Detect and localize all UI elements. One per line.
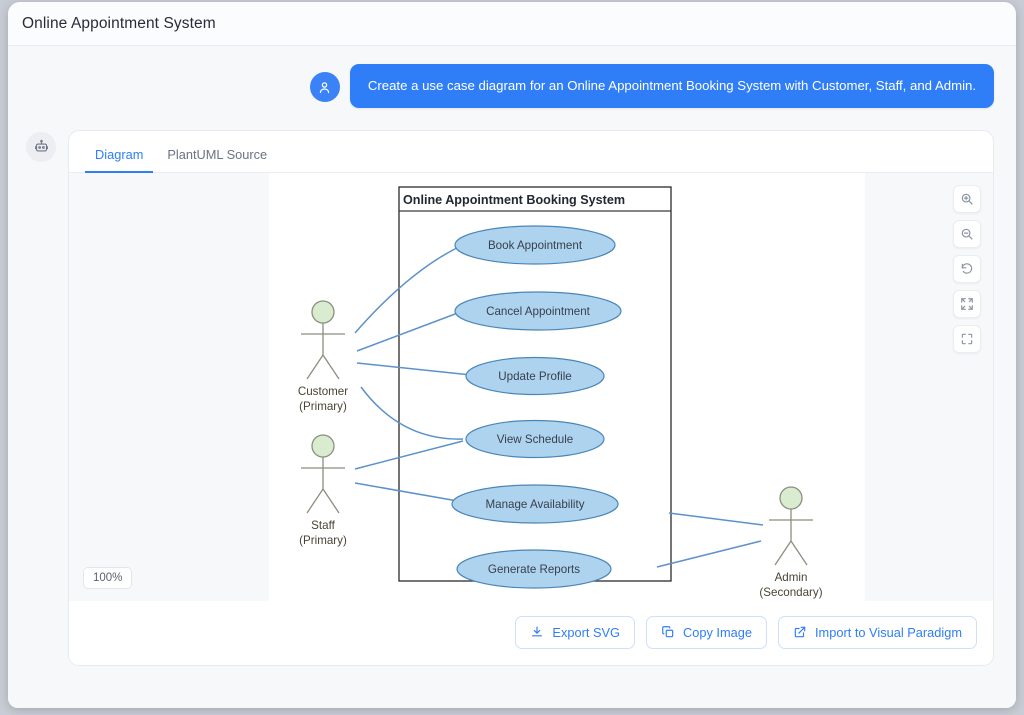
copy-image-button[interactable]: Copy Image [646, 616, 767, 649]
zoom-in-icon [960, 192, 974, 206]
assoc-customer-book [355, 245, 463, 333]
system-boundary-title: Online Appointment Booking System [403, 193, 625, 207]
actor-head [780, 487, 802, 509]
actor-customer[interactable]: Customer (Primary) [298, 301, 348, 413]
actor-leg-right [791, 541, 807, 565]
title-bar: Online Appointment System [8, 2, 1016, 46]
actor-leg-left [307, 489, 323, 513]
use-case-label: View Schedule [497, 433, 574, 446]
assistant-row: Diagram PlantUML Source Online Appointme… [8, 108, 1016, 666]
actor-label-role: (Primary) [299, 534, 347, 547]
fullscreen-button[interactable] [953, 325, 981, 353]
zoom-level-badge: 100% [83, 567, 132, 589]
tab-plantuml-source[interactable]: PlantUML Source [157, 142, 277, 173]
copy-icon [661, 625, 675, 639]
user-avatar [310, 72, 340, 102]
actor-staff[interactable]: Staff (Primary) [299, 435, 347, 547]
use-case-label: Manage Availability [485, 498, 584, 511]
user-message-bubble: Create a use case diagram for an Online … [350, 64, 994, 108]
assoc-staff-view [355, 441, 463, 469]
actor-admin[interactable]: Admin (Secondary) [759, 487, 822, 599]
actor-label-role: (Primary) [299, 400, 347, 413]
zoom-out-button[interactable] [953, 220, 981, 248]
import-visual-paradigm-button[interactable]: Import to Visual Paradigm [778, 616, 977, 649]
copy-image-label: Copy Image [683, 625, 752, 640]
export-svg-button[interactable]: Export SVG [515, 616, 635, 649]
use-case-label: Book Appointment [488, 239, 583, 252]
robot-icon [34, 139, 49, 154]
use-case-label: Generate Reports [488, 563, 580, 576]
assoc-staff-manage [355, 483, 469, 503]
diagram-canvas[interactable]: Online Appointment Booking System [69, 173, 993, 601]
assoc-admin-reports [657, 541, 761, 567]
fullscreen-icon [960, 332, 974, 346]
actor-leg-right [323, 355, 339, 379]
assoc-customer-cancel [357, 311, 463, 351]
actor-label-name: Customer [298, 385, 348, 398]
person-icon [317, 80, 332, 95]
import-visual-paradigm-label: Import to Visual Paradigm [815, 625, 962, 640]
actor-leg-right [323, 489, 339, 513]
use-case-update-profile[interactable]: Update Profile [466, 357, 604, 394]
actor-head [312, 435, 334, 457]
expand-icon [960, 297, 974, 311]
actor-label-role: (Secondary) [759, 586, 822, 599]
use-case-book-appointment[interactable]: Book Appointment [455, 226, 615, 264]
fit-screen-button[interactable] [953, 290, 981, 318]
assistant-avatar [26, 132, 56, 162]
canvas-controls [953, 185, 981, 353]
use-case-view-schedule[interactable]: View Schedule [466, 420, 604, 457]
assoc-customer-update [357, 363, 471, 375]
use-case-diagram-svg: Online Appointment Booking System [69, 173, 993, 601]
card-action-bar: Export SVG Copy Image [69, 601, 993, 665]
assoc-admin-manage [669, 513, 763, 525]
download-icon [530, 625, 544, 639]
zoom-in-button[interactable] [953, 185, 981, 213]
use-case-nodes: Book Appointment Cancel Appointment Upda… [452, 226, 621, 588]
use-case-manage-availability[interactable]: Manage Availability [452, 485, 618, 523]
user-message-row: Create a use case diagram for an Online … [8, 46, 1016, 108]
reset-button[interactable] [953, 255, 981, 283]
actor-label-name: Staff [311, 519, 335, 532]
use-case-generate-reports[interactable]: Generate Reports [457, 550, 611, 588]
actor-head [312, 301, 334, 323]
window-title: Online Appointment System [22, 15, 216, 33]
use-case-label: Update Profile [498, 370, 571, 383]
zoom-out-icon [960, 227, 974, 241]
use-case-cancel-appointment[interactable]: Cancel Appointment [455, 292, 621, 330]
export-svg-label: Export SVG [552, 625, 620, 640]
tab-bar: Diagram PlantUML Source [69, 131, 993, 173]
reset-icon [960, 262, 974, 276]
app-window: Online Appointment System Create a use c… [8, 2, 1016, 708]
tab-diagram[interactable]: Diagram [85, 142, 153, 173]
use-case-label: Cancel Appointment [486, 305, 591, 318]
content-area: Create a use case diagram for an Online … [8, 46, 1016, 708]
assoc-customer-view [361, 387, 463, 439]
actor-label-name: Admin [775, 571, 808, 584]
diagram-card: Diagram PlantUML Source Online Appointme… [68, 130, 994, 666]
actor-leg-left [775, 541, 791, 565]
external-link-icon [793, 625, 807, 639]
actor-leg-left [307, 355, 323, 379]
